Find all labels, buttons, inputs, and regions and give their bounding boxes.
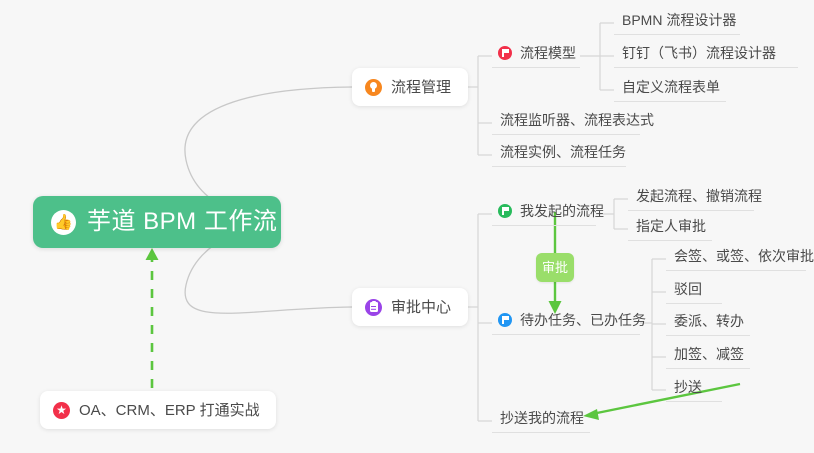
branch-label-process-management: 流程管理 bbox=[391, 80, 451, 95]
flag-icon bbox=[498, 46, 512, 60]
clipboard-icon bbox=[365, 299, 382, 316]
leaf-start-cancel-process[interactable]: 发起流程、撤销流程 bbox=[628, 189, 754, 211]
mindmap-canvas: 👍 芋道 BPM 工作流 流程管理 审批中心 流程模型 BPMN 流程设计器 钉… bbox=[0, 0, 814, 453]
leaf-reject[interactable]: 驳回 bbox=[666, 282, 722, 304]
root-node[interactable]: 👍 芋道 BPM 工作流 bbox=[33, 196, 281, 248]
flag-icon bbox=[498, 313, 512, 327]
branch-label-approval-center: 审批中心 bbox=[391, 300, 451, 315]
leaf-process-model[interactable]: 流程模型 bbox=[492, 46, 580, 68]
leaf-add-remove-sign[interactable]: 加签、减签 bbox=[666, 347, 750, 369]
star-icon: ★ bbox=[53, 402, 70, 419]
bottom-note-label: OA、CRM、ERP 打通实战 bbox=[79, 403, 260, 418]
lightbulb-icon bbox=[365, 79, 382, 96]
root-node-label: 芋道 BPM 工作流 bbox=[87, 210, 277, 234]
leaf-dingtalk-designer[interactable]: 钉钉（飞书）流程设计器 bbox=[614, 46, 798, 68]
approval-chip[interactable]: 审批 bbox=[536, 253, 574, 282]
leaf-label: 流程模型 bbox=[520, 46, 576, 60]
branch-node-process-management[interactable]: 流程管理 bbox=[352, 68, 468, 106]
leaf-cc-to-me[interactable]: 抄送我的流程 bbox=[492, 411, 590, 433]
leaf-delegate-transfer[interactable]: 委派、转办 bbox=[666, 314, 750, 336]
leaf-label: 待办任务、已办任务 bbox=[520, 313, 646, 327]
leaf-process-instance[interactable]: 流程实例、流程任务 bbox=[492, 145, 626, 167]
leaf-assignee-approval[interactable]: 指定人审批 bbox=[628, 219, 712, 241]
leaf-todo-done-tasks[interactable]: 待办任务、已办任务 bbox=[492, 313, 640, 335]
leaf-custom-form[interactable]: 自定义流程表单 bbox=[614, 80, 726, 102]
bottom-note-node[interactable]: ★ OA、CRM、ERP 打通实战 bbox=[40, 391, 276, 429]
leaf-countersign[interactable]: 会签、或签、依次审批 bbox=[666, 249, 806, 271]
leaf-my-started-processes[interactable]: 我发起的流程 bbox=[492, 204, 596, 226]
branch-node-approval-center[interactable]: 审批中心 bbox=[352, 288, 468, 326]
dashed-arrow-up bbox=[146, 248, 159, 388]
leaf-label: 我发起的流程 bbox=[520, 204, 604, 218]
leaf-bpmn-designer[interactable]: BPMN 流程设计器 bbox=[614, 13, 740, 35]
flag-icon bbox=[498, 204, 512, 218]
thumbs-up-icon: 👍 bbox=[51, 210, 76, 235]
leaf-process-listener[interactable]: 流程监听器、流程表达式 bbox=[492, 113, 640, 135]
leaf-cc[interactable]: 抄送 bbox=[666, 380, 722, 402]
